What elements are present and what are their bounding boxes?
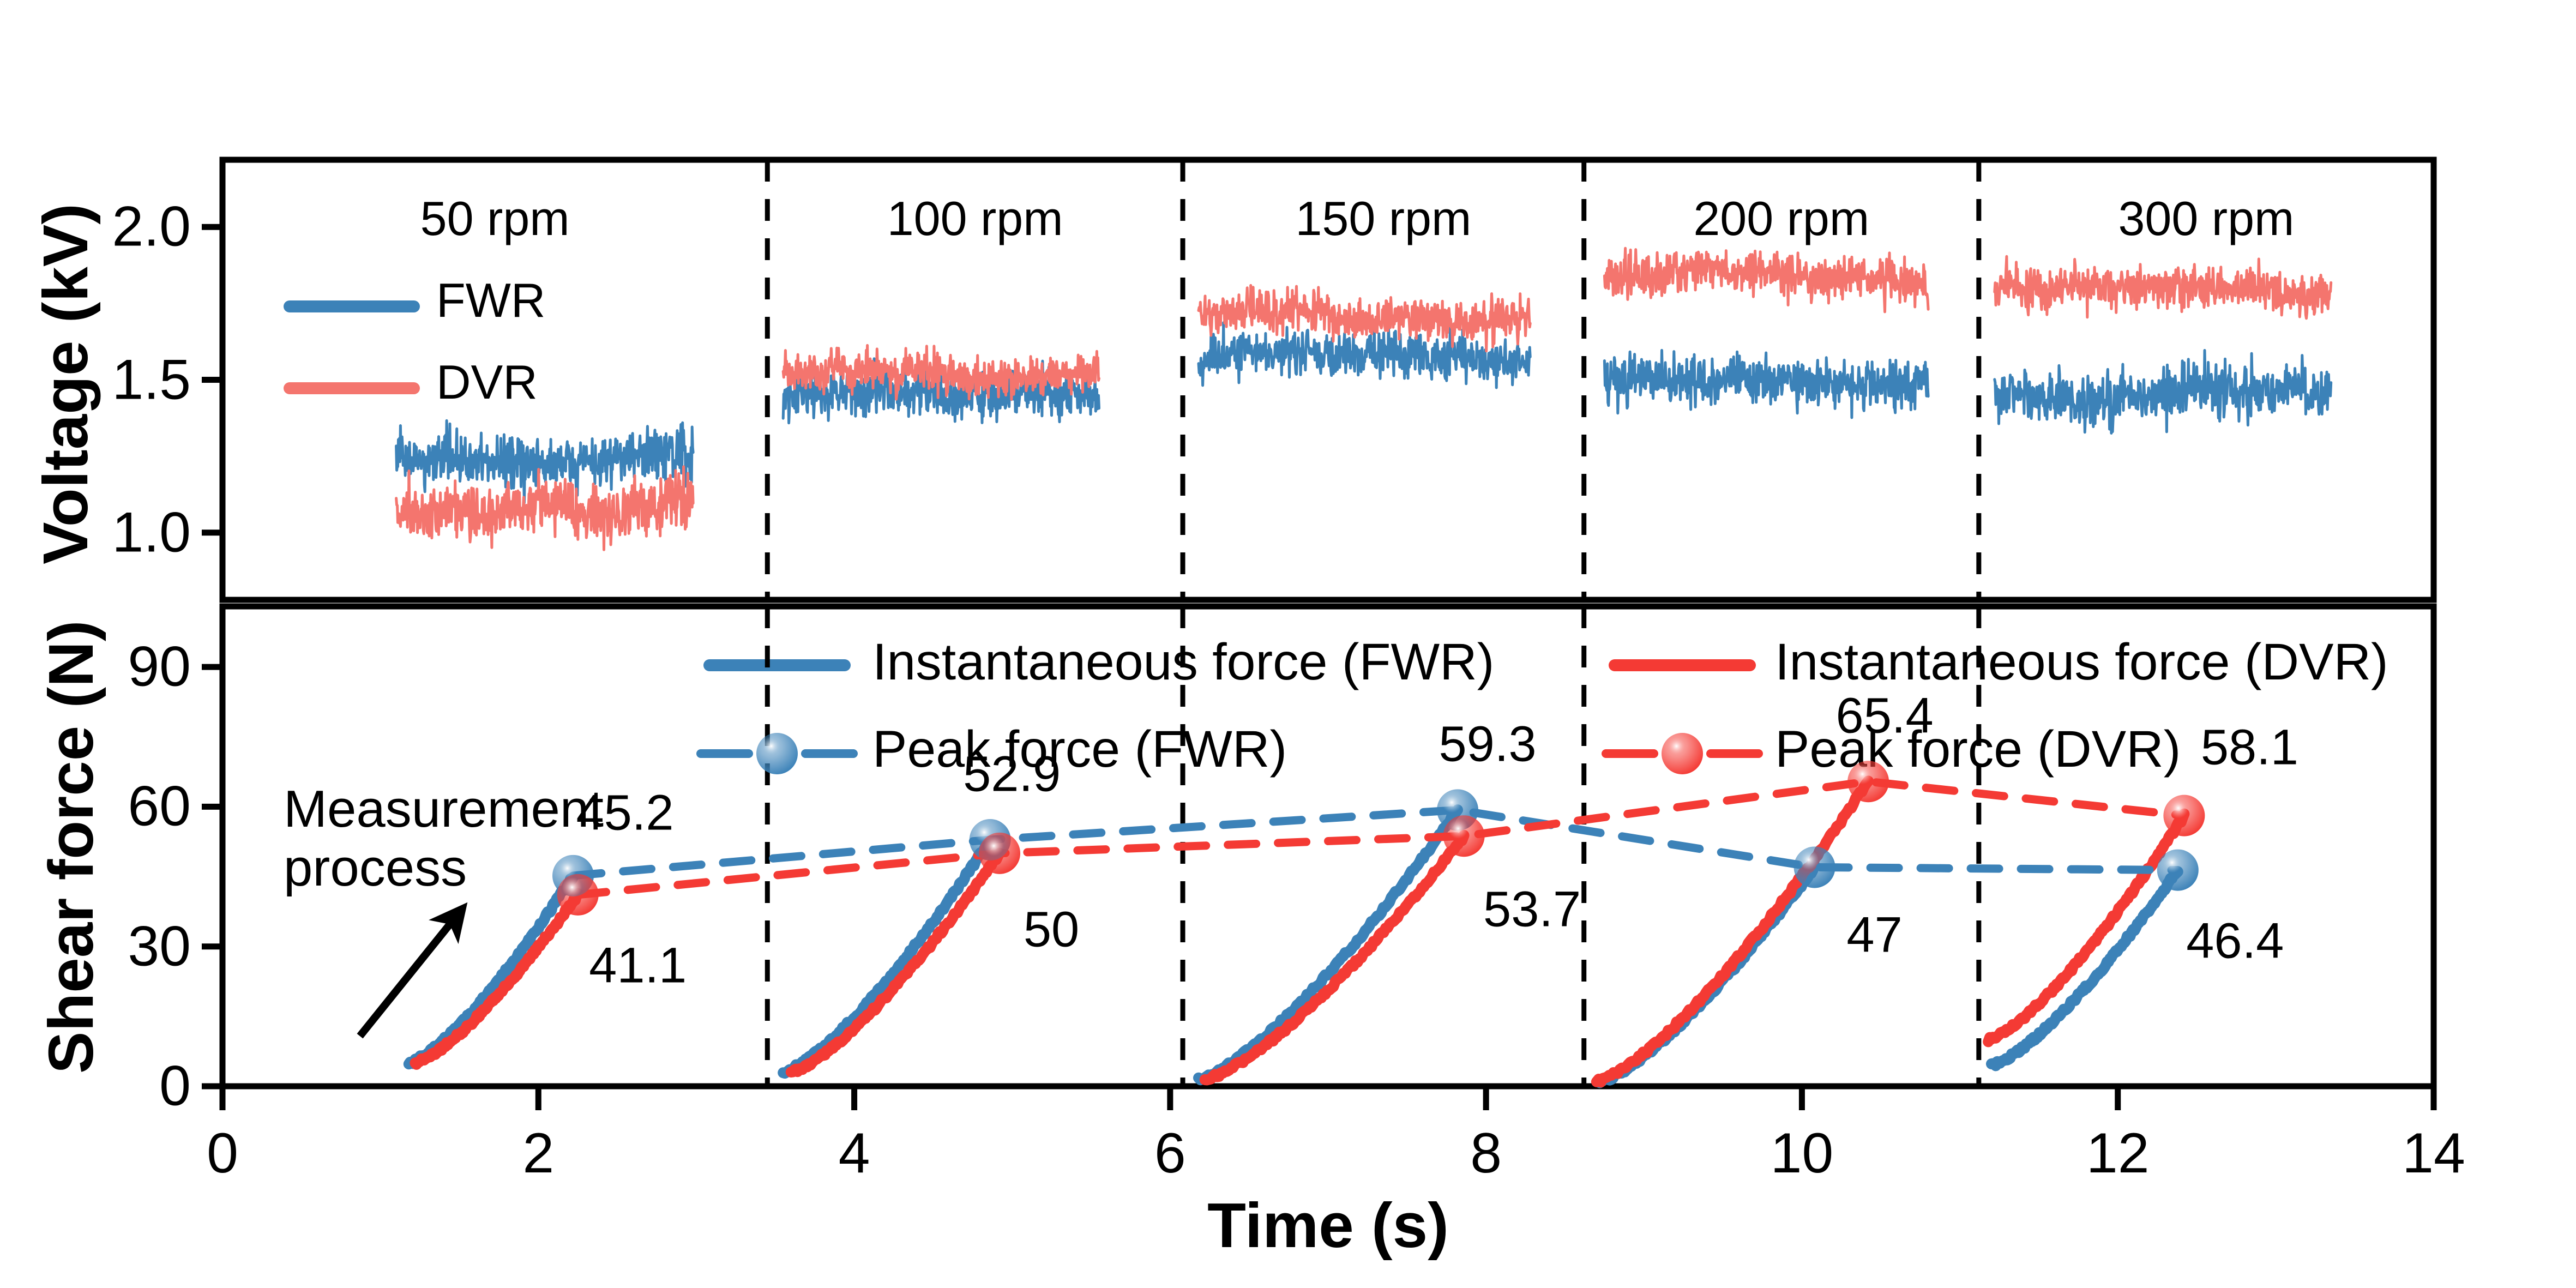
peak-marker-peak-force-dvr--1 <box>557 874 599 916</box>
voltage-trace-dvr-seg5 <box>1995 256 2331 318</box>
peak-marker-peak-force-dvr--4 <box>1847 761 1889 802</box>
voltage-trace-fwr-seg3 <box>1199 323 1530 388</box>
voltage-trace-fwr-seg5 <box>1995 351 2331 434</box>
voltage-trace-dvr-seg4 <box>1604 248 1928 312</box>
peak-force-trend-peak-force-fwr- <box>573 810 2178 875</box>
peak-marker-peak-force-dvr--2 <box>979 833 1020 874</box>
instantaneous-force-ramp-fwr-5 <box>1199 810 1458 1080</box>
measurement-process-arrow <box>360 911 461 1036</box>
plot-canvas <box>0 0 2576 1288</box>
instantaneous-force-ramp-fwr-1 <box>409 877 573 1064</box>
peak-force-trend-peak-force-dvr- <box>578 781 2184 895</box>
instantaneous-force-ramp-dvr-8 <box>1597 781 1868 1082</box>
peak-marker-peak-force-fwr--5 <box>2157 850 2199 891</box>
instantaneous-force-ramp-fwr-9 <box>1991 872 2178 1066</box>
force-panel-frame <box>222 606 2434 1086</box>
legend-peak-force-dvr-marker <box>1662 733 1703 774</box>
instantaneous-force-ramp-fwr-3 <box>783 841 990 1073</box>
voltage-trace-fwr-seg4 <box>1604 350 1928 418</box>
legend-peak-force-fwr-marker <box>756 733 798 774</box>
peak-marker-peak-force-dvr--5 <box>2163 795 2205 836</box>
peak-marker-peak-force-dvr--3 <box>1443 815 1485 857</box>
peak-marker-peak-force-fwr--4 <box>1794 846 1835 888</box>
figure-root: Voltage (kV) Shear force (N) Time (s) 2.… <box>0 0 2576 1288</box>
instantaneous-force-ramp-dvr-10 <box>1988 814 2184 1042</box>
